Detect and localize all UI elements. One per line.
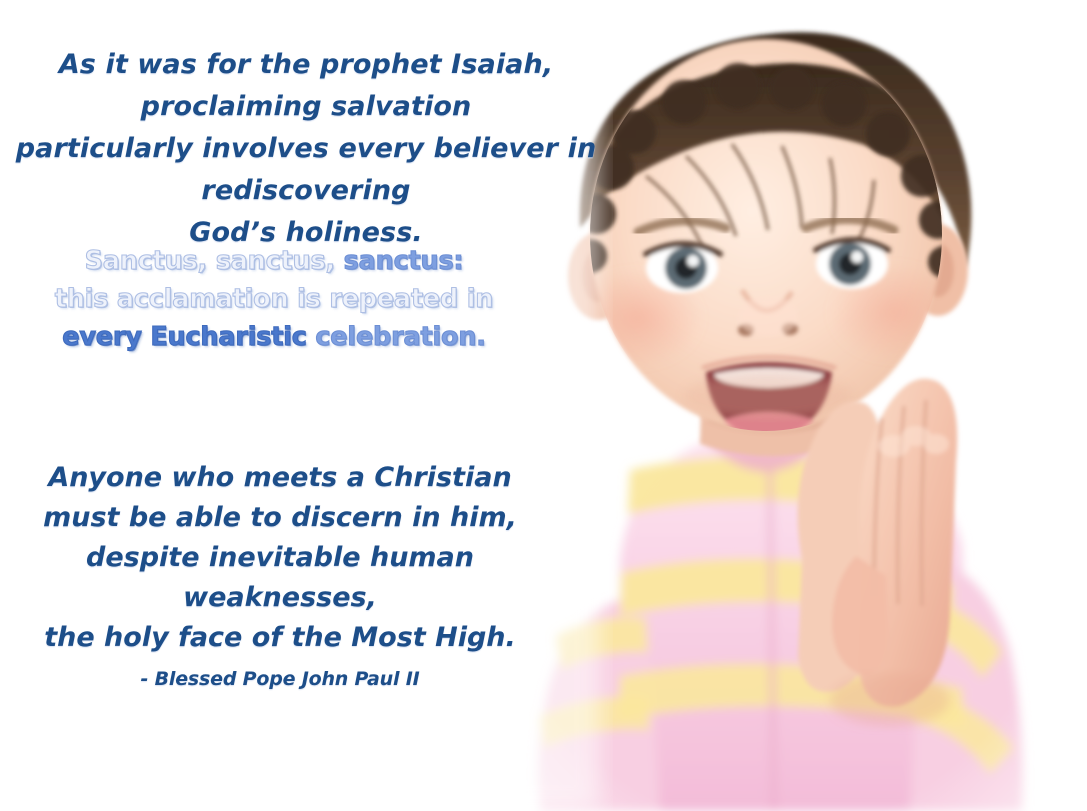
sanctus-line-1: Sanctus, sanctus, sanctus:	[14, 242, 534, 280]
quote-block-isaiah: As it was for the prophet Isaiah, procla…	[0, 44, 612, 254]
quote-graphic-canvas: As it was for the prophet Isaiah, procla…	[0, 0, 1087, 811]
sanctus-line-3-part-1: every Eucharistic	[62, 322, 315, 352]
discern-line-4: the holy face of the Most High.	[0, 618, 560, 658]
sanctus-line-2: this acclamation is repeated in	[14, 280, 534, 318]
quote-attribution: - Blessed Pope John Paul II	[0, 668, 560, 690]
isaiah-line-2: particularly involves every believer in …	[0, 128, 612, 212]
quote-block-discern: Anyone who meets a Christian must be abl…	[0, 458, 560, 658]
discern-line-1: Anyone who meets a Christian	[0, 458, 560, 498]
sanctus-line-1-part-1: Sanctus, sanctus,	[85, 246, 344, 276]
sanctus-line-1-part-2: sanctus:	[344, 246, 464, 276]
sanctus-line-3: every Eucharistic celebration.	[14, 318, 534, 356]
quote-block-sanctus: Sanctus, sanctus, sanctus: this acclamat…	[14, 242, 534, 356]
sanctus-line-3-part-2: celebration.	[315, 322, 485, 352]
discern-line-3: despite inevitable human weaknesses,	[0, 538, 560, 618]
quote-text-column: As it was for the prophet Isaiah, procla…	[0, 0, 620, 811]
isaiah-line-1: As it was for the prophet Isaiah, procla…	[0, 44, 612, 128]
discern-line-2: must be able to discern in him,	[0, 498, 560, 538]
